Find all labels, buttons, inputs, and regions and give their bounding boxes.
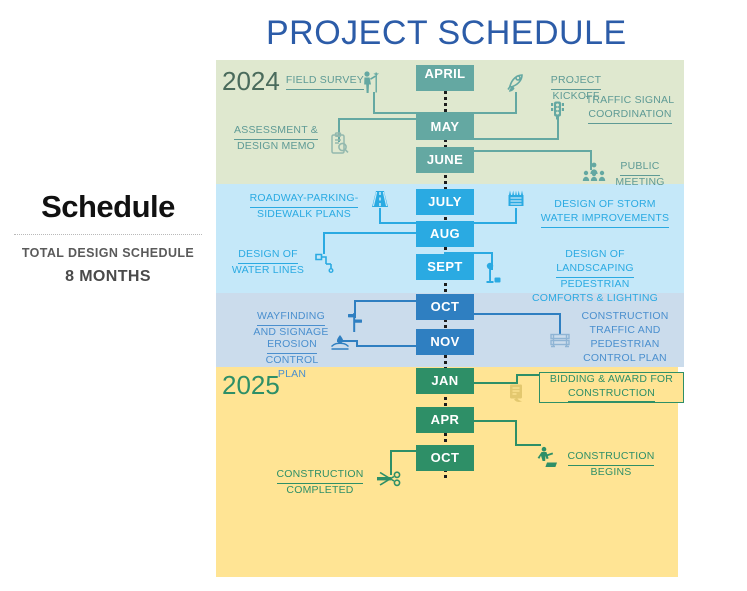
label-wayfinding-line2: AND SIGNAGE: [253, 326, 328, 338]
label-construction-traffic-line2: TRAFFIC AND: [589, 324, 660, 336]
barricade-icon: [549, 331, 571, 349]
label-landscaping: DESIGN OF LANDSCAPING PEDESTRIAN COMFORT…: [512, 248, 678, 305]
label-landscaping-line3: PEDESTRIAN: [560, 278, 629, 290]
label-construction-completed-line1: CONSTRUCTION: [277, 468, 364, 484]
label-erosion-control-line1: EROSION: [267, 338, 317, 354]
month-chip-july[interactable]: JULY: [416, 189, 474, 215]
label-storm-water-line2: WATER IMPROVEMENTS: [541, 212, 669, 228]
month-chip-oct[interactable]: OCT: [416, 294, 474, 320]
label-roadway-plans: ROADWAY-PARKING- SIDEWALK PLANS: [242, 192, 366, 222]
traffic-light-icon: [549, 100, 566, 120]
label-bidding-award-line2: CONSTRUCTION: [568, 387, 655, 403]
label-water-lines-line1: DESIGN OF: [238, 248, 298, 264]
street-lamp-icon: [484, 262, 502, 284]
label-field-survey: FIELD SURVEY: [272, 74, 364, 90]
label-assessment-memo: ASSESSMENT & DESIGN MEMO: [222, 124, 330, 154]
label-construction-traffic-line4: CONTROL PLAN: [583, 352, 667, 364]
label-construction-begins: CONSTRUCTION BEGINS: [560, 450, 662, 480]
label-construction-begins-line1: CONSTRUCTION: [568, 450, 655, 466]
label-wayfinding-line1: WAYFINDING: [257, 310, 325, 326]
label-storm-water: DESIGN OF STORM WATER IMPROVEMENTS: [532, 198, 678, 228]
label-construction-completed: CONSTRUCTION COMPLETED: [268, 468, 372, 498]
infographic-canvas: PROJECT SCHEDULE Schedule TOTAL DESIGN S…: [0, 0, 747, 591]
storm-drain-icon: [506, 189, 526, 208]
label-wayfinding: WAYFINDING AND SIGNAGE: [240, 310, 342, 340]
label-erosion-control: EROSION CONTROL PLAN: [252, 338, 332, 382]
connector-traffic-signal-v: [557, 118, 559, 140]
label-traffic-signal-line2: COORDINATION: [588, 108, 671, 124]
connector-field-survey-v: [373, 92, 375, 114]
label-storm-water-line1: DESIGN OF STORM: [554, 198, 655, 210]
label-water-lines: DESIGN OF WATER LINES: [222, 248, 314, 278]
label-construction-traffic: CONSTRUCTION TRAFFIC AND PEDESTRIAN CONT…: [570, 310, 680, 365]
label-public-meeting-line2: MEETING: [615, 176, 664, 188]
month-chip-may[interactable]: MAY: [416, 114, 474, 140]
erosion-icon: [330, 334, 350, 350]
label-bidding-award: BIDDING & AWARD FOR CONSTRUCTION: [542, 373, 682, 403]
connector-kickoff-v: [515, 92, 517, 114]
label-traffic-signal-line1: TRAFFIC SIGNAL: [586, 94, 675, 106]
rocket-icon: [505, 70, 527, 92]
ribbon-cutting-icon: [376, 470, 402, 488]
month-chip-apr[interactable]: APR: [416, 407, 474, 433]
label-landscaping-line4: COMFORTS & LIGHTING: [532, 292, 658, 304]
label-construction-traffic-line3: PEDESTRIAN: [590, 338, 659, 350]
sidebar-divider: [14, 234, 202, 235]
road-icon: [370, 190, 390, 208]
label-construction-completed-line2: COMPLETED: [286, 484, 353, 496]
sidebar-subtitle: TOTAL DESIGN SCHEDULE: [8, 244, 208, 263]
page-title: PROJECT SCHEDULE: [266, 14, 686, 53]
label-landscaping-line1: DESIGN OF: [565, 248, 625, 260]
label-landscaping-line2: LANDSCAPING: [556, 262, 633, 278]
label-roadway-plans-line1: ROADWAY-PARKING-: [250, 192, 359, 208]
sidebar-duration: 8 MONTHS: [8, 268, 208, 286]
contract-icon: [508, 383, 528, 403]
month-chip-aug[interactable]: AUG: [416, 221, 474, 247]
label-field-survey-line1: FIELD SURVEY: [286, 74, 364, 90]
people-meeting-icon: [582, 162, 606, 182]
label-bidding-award-line1: BIDDING & AWARD FOR: [550, 373, 673, 385]
label-public-meeting: PUBLIC MEETING: [605, 160, 675, 190]
month-chip-oct-2025[interactable]: OCT: [416, 445, 474, 471]
month-chip-nov[interactable]: NOV: [416, 329, 474, 355]
label-public-meeting-line1: PUBLIC: [620, 160, 659, 176]
label-project-kickoff-line1: PROJECT: [551, 74, 601, 90]
sidebar-summary: Schedule TOTAL DESIGN SCHEDULE 8 MONTHS: [8, 190, 208, 286]
worker-icon: [536, 446, 558, 468]
faucet-icon: [314, 251, 336, 273]
sidebar-title: Schedule: [8, 190, 208, 224]
label-assessment-memo-line2: DESIGN MEMO: [237, 140, 315, 152]
surveyor-icon: [360, 70, 382, 94]
connector-constr-traffic-h: [474, 313, 561, 315]
signpost-icon: [346, 311, 364, 333]
connector-cb-v: [515, 420, 517, 446]
label-erosion-control-line2: CONTROL: [266, 354, 319, 366]
connector-traffic-signal-h: [474, 138, 559, 140]
label-construction-traffic-line1: CONSTRUCTION: [582, 310, 669, 322]
connector-bidding-h2: [516, 374, 541, 376]
label-erosion-control-line3: PLAN: [278, 368, 306, 380]
label-assessment-memo-line1: ASSESSMENT &: [234, 124, 318, 140]
clipboard-search-icon: [330, 132, 350, 156]
label-roadway-plans-line2: SIDEWALK PLANS: [257, 208, 351, 220]
month-chip-jan[interactable]: JAN: [416, 368, 474, 394]
label-traffic-signal: TRAFFIC SIGNAL COORDINATION: [575, 94, 685, 124]
month-chip-june[interactable]: JUNE: [416, 147, 474, 173]
month-chip-april[interactable]: APRIL: [416, 65, 474, 91]
month-chip-sept[interactable]: SEPT: [416, 254, 474, 280]
label-water-lines-line2: WATER LINES: [232, 264, 304, 276]
bidding-award-box[interactable]: BIDDING & AWARD FOR CONSTRUCTION: [539, 372, 684, 403]
connector-public-meeting-h: [474, 150, 592, 152]
connector-cb-h1: [474, 420, 517, 422]
label-construction-begins-line2: BEGINS: [591, 466, 632, 478]
